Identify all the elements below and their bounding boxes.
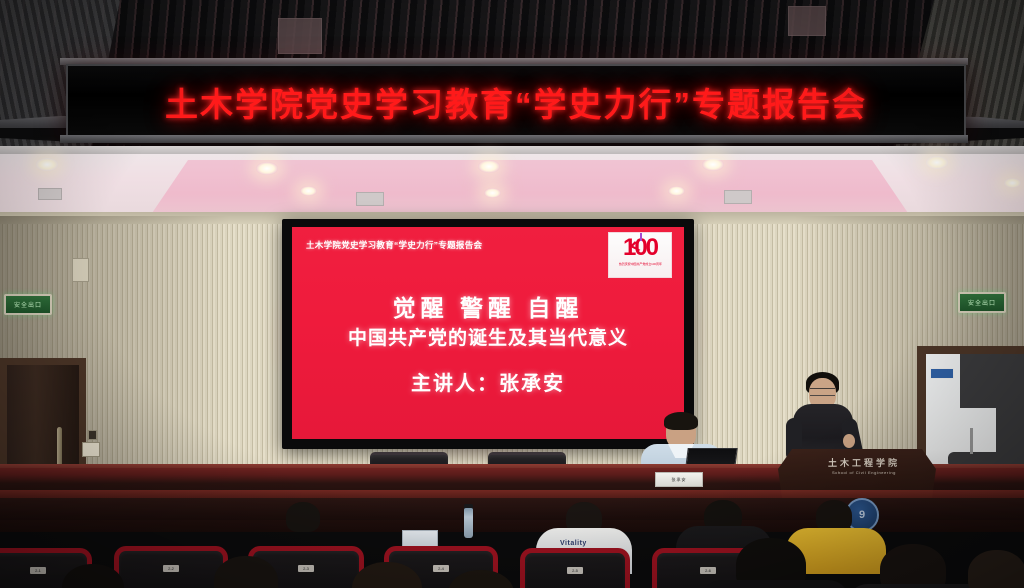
audience-shoulders [700, 580, 850, 588]
exit-sign-label: 安全出口 [968, 298, 996, 307]
nameplate: 张承安 [655, 472, 703, 487]
ceiling-vent [724, 190, 752, 204]
audience-seat[interactable]: 2-2 [114, 546, 228, 588]
audience-shirt-print: Vitality [560, 540, 587, 547]
seat-number: 2-5 [567, 567, 583, 574]
exit-sign-right: 安全出口 [958, 292, 1006, 313]
downlight [926, 156, 948, 169]
exit-sign-label: 安全出口 [14, 300, 42, 309]
downlight [1004, 178, 1021, 188]
audience-head [286, 502, 320, 532]
logo-stalk-icon [640, 232, 642, 241]
downlight [256, 162, 278, 175]
audience-area: Vitality 2-1 2-2 2-3 2-4 2-5 2-6 [0, 500, 1024, 588]
ceiling-access-panel [278, 18, 322, 54]
downlight [484, 188, 501, 198]
downlight [36, 158, 58, 171]
presenter-hand [843, 434, 855, 448]
seat-number: 2-2 [163, 565, 179, 572]
wall-switch-panel[interactable] [82, 442, 100, 457]
soffit-lip [0, 146, 1024, 154]
led-banner-text: 土木学院党史学习教育“学史力行”专题报告会 [165, 78, 867, 126]
ceiling-vent [356, 192, 384, 206]
logo-caption: 热烈庆祝中国共产党成立100周年 [618, 262, 661, 266]
slide-header: 土木学院党史学习教育“学史力行”专题报告会 [306, 239, 482, 251]
exit-sign-left: 安全出口 [4, 294, 52, 315]
banner-frame-bottom [60, 135, 968, 143]
audience-head-foreground [880, 544, 946, 588]
ceiling-access-panel [788, 6, 826, 36]
audience-head-foreground [968, 550, 1024, 588]
nameplate-text: 张承安 [656, 473, 702, 486]
slide-subtitle: 中国共产党的诞生及其当代意义 [292, 323, 684, 350]
ceiling-vent [38, 188, 62, 200]
downlight [478, 160, 500, 173]
led-banner: 土木学院党史学习教育“学史力行”专题报告会 [66, 64, 966, 140]
cpc-centenary-logo: 100 热烈庆祝中国共产党成立100周年 [608, 232, 672, 278]
doorway-pole [970, 428, 973, 454]
podium-name-en: School of Civil Engineering [832, 471, 896, 475]
podium-sign: 土木工程学院 School of Civil Engineering [812, 455, 916, 479]
doorway-blue-sign [930, 368, 954, 379]
slide-title: 觉醒 警醒 自醒 [292, 289, 684, 323]
door-handle-icon[interactable] [57, 427, 62, 467]
glasses-icon [810, 388, 835, 396]
podium-name-cn: 土木工程学院 [828, 459, 900, 469]
logo-number-100: 100 [623, 236, 657, 260]
downlight [668, 186, 685, 196]
slide-speaker-line: 主讲人：张承安 [292, 367, 684, 396]
downlight [702, 158, 724, 171]
wall-speaker [72, 258, 89, 282]
seat-number: 2-6 [700, 567, 716, 574]
projection-screen: 土木学院党史学习教育“学史力行”专题报告会 100 热烈庆祝中国共产党成立100… [292, 227, 684, 439]
seat-number: 2-3 [298, 565, 314, 572]
audience-seat[interactable]: 2-5 [520, 548, 630, 588]
downlight [300, 186, 317, 196]
wall-sensor [88, 430, 97, 440]
seat-number: 2-1 [30, 567, 46, 574]
seated-host-hair [664, 412, 698, 430]
auditorium-photo: 土木学院党史学习教育“学史力行”专题报告会 安全出口 安全出口 [0, 0, 1024, 588]
seat-number: 2-4 [433, 565, 449, 572]
